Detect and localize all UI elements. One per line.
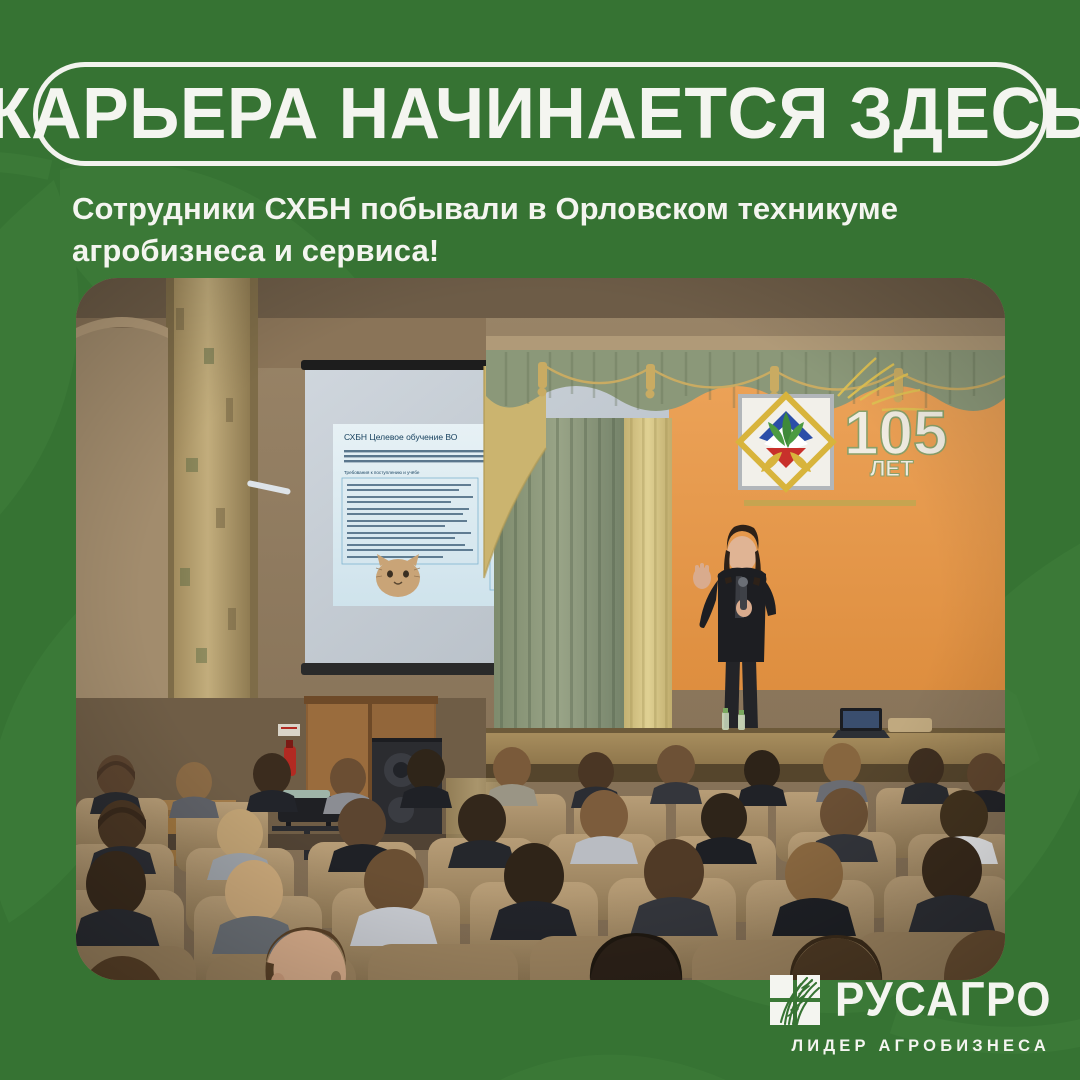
poster-root: КАРЬЕРА НАЧИНАЕТСЯ ЗДЕСЬ Сотрудники СХБН… [0,0,1080,1080]
rusagro-logo: РУСАГРО ЛИДЕР АГРОБИЗНЕСА [769,974,1052,1056]
rusagro-wheat-square-icon [769,974,821,1026]
logo-tagline: ЛИДЕР АГРОБИЗНЕСА [792,1037,1050,1056]
event-photo: СХБН Целевое обучение ВО Требования к по… [76,278,1005,980]
page-title: КАРЬЕРА НАЧИНАЕТСЯ ЗДЕСЬ [0,78,1080,150]
logo-row: РУСАГРО [769,974,1052,1026]
logo-wordmark: РУСАГРО [835,976,1052,1024]
page-subtitle: Сотрудники СХБН побывали в Орловском тех… [72,188,1002,272]
title-pill: КАРЬЕРА НАЧИНАЕТСЯ ЗДЕСЬ [33,62,1048,166]
